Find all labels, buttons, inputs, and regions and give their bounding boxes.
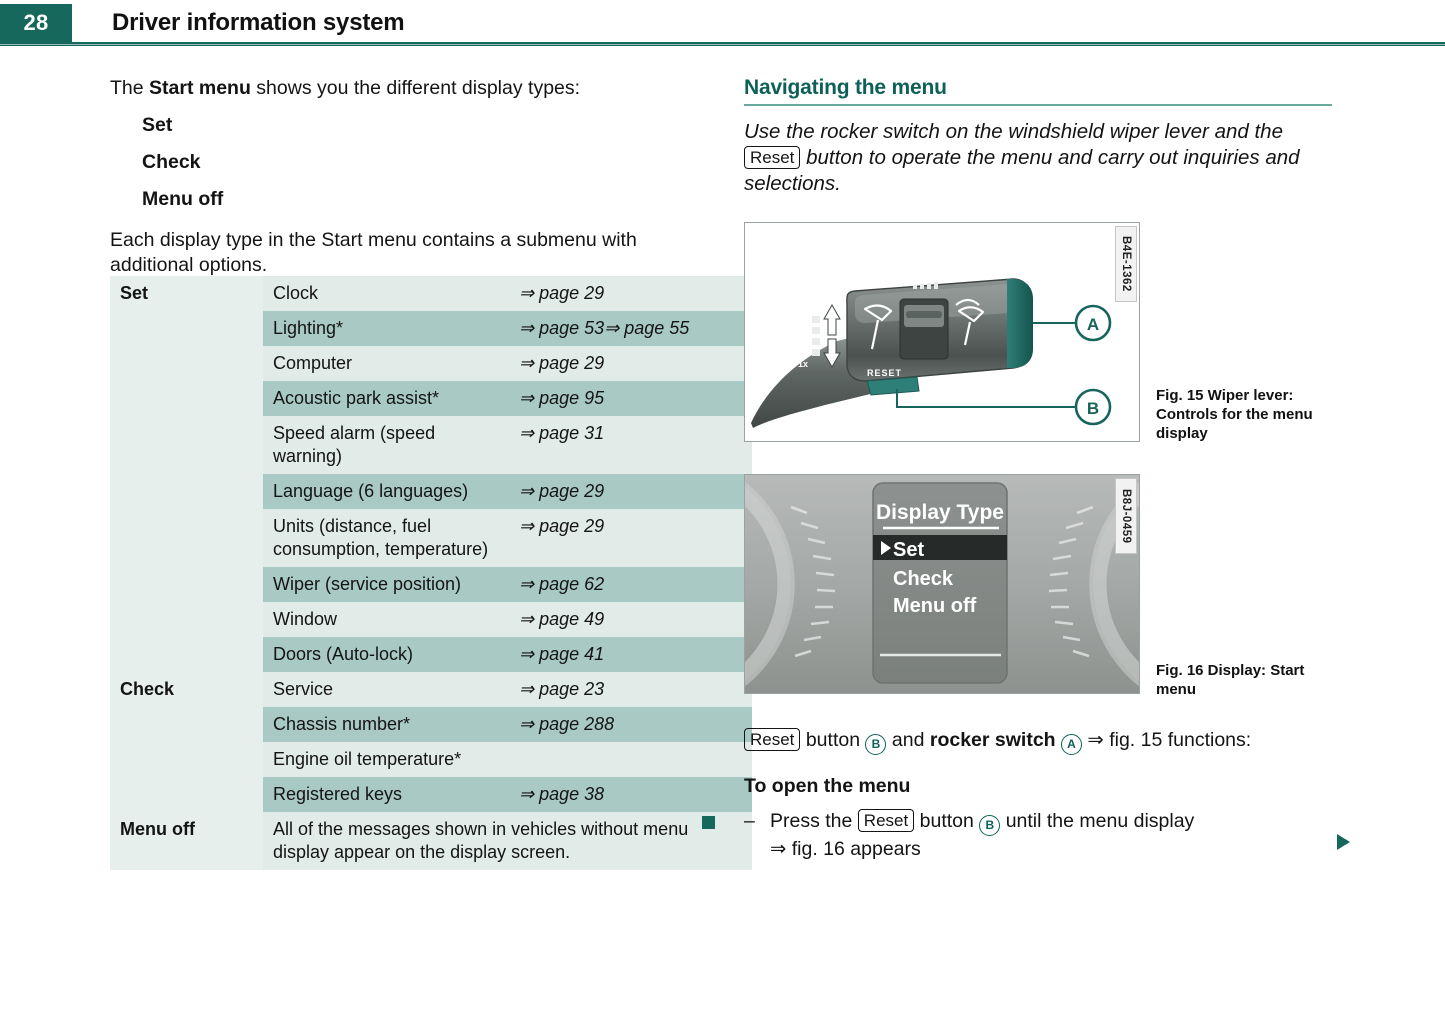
table-cell-item: Engine oil temperature* xyxy=(263,742,509,777)
functions-tail: ⇒ fig. 15 functions: xyxy=(1082,729,1251,751)
intro-paragraph: The Start menu shows you the different d… xyxy=(110,76,700,101)
step-post: until the menu display xyxy=(1000,810,1194,832)
lever-mark-high: HIGH xyxy=(786,313,809,323)
lever-mark-low: LOW xyxy=(787,325,808,335)
table-row: Menu offAll of the messages shown in veh… xyxy=(110,812,752,870)
reset-key-step: Reset xyxy=(858,809,914,832)
callout-label-b: B xyxy=(1087,399,1099,418)
table-group-label: Menu off xyxy=(110,812,263,870)
navigating-intro-part1: Use the rocker switch on the windshield … xyxy=(744,120,1283,143)
callout-circle-b-step: B xyxy=(979,815,1000,836)
display-screen-title: Display Type xyxy=(876,501,1004,524)
table-row: SetClock⇒ page 29 xyxy=(110,276,752,311)
functions-bold-rocker: rocker switch xyxy=(930,729,1056,751)
section-heading-navigating: Navigating the menu xyxy=(744,76,1344,100)
table-cell-item: Language (6 languages) xyxy=(263,474,509,509)
table-cell-reference: ⇒ page 29 xyxy=(509,346,752,381)
display-item-set: Set xyxy=(893,539,924,561)
table-cell-item: Lighting* xyxy=(263,311,509,346)
table-cell-reference: ⇒ page 23 xyxy=(509,672,752,707)
callout-circle-a-inline: A xyxy=(1061,734,1082,755)
figure-16-caption-line1: Fig. 16 Display: Start xyxy=(1156,661,1336,680)
section-heading-rule xyxy=(744,104,1332,106)
table-cell-item: Wiper (service position) xyxy=(263,567,509,602)
menu-structure-table: SetClock⇒ page 29Lighting*⇒ page 53⇒ pag… xyxy=(110,276,752,870)
section-end-marker xyxy=(702,816,715,829)
intro-prefix: The xyxy=(110,77,149,99)
callout-label-a: A xyxy=(1087,315,1099,334)
right-column: Navigating the menu Use the rocker switc… xyxy=(744,76,1344,197)
table-cell-reference: ⇒ page 29 xyxy=(509,474,752,509)
menu-structure-table-body: SetClock⇒ page 29Lighting*⇒ page 53⇒ pag… xyxy=(110,276,752,870)
page-number: 28 xyxy=(23,10,48,36)
figure-15-caption: Fig. 15 Wiper lever: Controls for the me… xyxy=(1156,386,1336,443)
navigating-intro-paragraph: Use the rocker switch on the windshield … xyxy=(744,119,1329,197)
table-cell-item: Computer xyxy=(263,346,509,381)
table-cell-reference xyxy=(509,742,752,777)
figure-15-box: HIGH LOW · · · OFF 1x RESET A B B4E-1362 xyxy=(744,222,1140,442)
step-pre: Press the xyxy=(770,810,858,832)
step-dash: – xyxy=(744,808,770,834)
table-cell-reference: ⇒ page 38 xyxy=(509,777,752,812)
figure-15-caption-line3: display xyxy=(1156,424,1336,443)
table-group-label: Check xyxy=(110,672,263,812)
table-cell-reference: ⇒ page 29 xyxy=(509,276,752,311)
figure-16: Display Type Set Check Menu off B8J-0459 xyxy=(744,474,1140,694)
wiper-lever-illustration: HIGH LOW · · · OFF 1x RESET A B xyxy=(745,223,1139,441)
reset-key-functions: Reset xyxy=(744,728,800,751)
table-cell-item: Chassis number* xyxy=(263,707,509,742)
table-cell-item: Service xyxy=(263,672,509,707)
table-cell-reference: ⇒ page 49 xyxy=(509,602,752,637)
open-menu-step: –Press the Reset button B until the menu… xyxy=(744,808,1344,862)
figure-16-caption: Fig. 16 Display: Start menu xyxy=(1156,661,1336,699)
display-type-menu-off: Menu off xyxy=(142,187,700,212)
table-cell-item: Window xyxy=(263,602,509,637)
table-cell-item: Doors (Auto-lock) xyxy=(263,637,509,672)
figure-16-caption-line2: menu xyxy=(1156,680,1336,699)
table-cell-item: Registered keys xyxy=(263,777,509,812)
display-item-menu-off: Menu off xyxy=(893,595,977,617)
table-cell-description: All of the messages shown in vehicles wi… xyxy=(263,812,752,870)
intro-bold: Start menu xyxy=(149,77,251,99)
page-header: 28 Driver information system xyxy=(0,0,1445,46)
table-cell-reference: ⇒ page 62 xyxy=(509,567,752,602)
instrument-cluster-display-illustration: Display Type Set Check Menu off xyxy=(745,475,1139,693)
table-cell-item: Clock xyxy=(263,276,509,311)
table-cell-item: Acoustic park assist* xyxy=(263,381,509,416)
callout-circle-b-inline: B xyxy=(865,734,886,755)
table-cell-reference: ⇒ page 41 xyxy=(509,637,752,672)
figure-16-box: Display Type Set Check Menu off B8J-0459 xyxy=(744,474,1140,694)
display-type-set: Set xyxy=(142,113,700,138)
table-cell-item: Units (distance, fuel consumption, tempe… xyxy=(263,509,509,567)
navigating-intro-part2: button to operate the menu and carry out… xyxy=(744,146,1300,195)
functions-word-button: button xyxy=(800,729,865,751)
left-column: The Start menu shows you the different d… xyxy=(110,76,700,278)
figure-15: HIGH LOW · · · OFF 1x RESET A B B4E-1362 xyxy=(744,222,1140,442)
figure-15-caption-line1: Fig. 15 Wiper lever: xyxy=(1156,386,1336,405)
table-cell-reference: ⇒ page 95 xyxy=(509,381,752,416)
reset-functions-line: Reset button B and rocker switch A ⇒ fig… xyxy=(744,728,1354,755)
figure-16-code: B8J-0459 xyxy=(1115,478,1137,554)
table-cell-item: Speed alarm (speed warning) xyxy=(263,416,509,474)
table-cell-reference: ⇒ page 29 xyxy=(509,509,752,567)
table-cell-reference: ⇒ page 288 xyxy=(509,707,752,742)
page-number-block: 28 xyxy=(0,4,72,42)
table-row: CheckService⇒ page 23 xyxy=(110,672,752,707)
step-line2: ⇒ fig. 16 appears xyxy=(770,836,1344,862)
page-title: Driver information system xyxy=(112,9,404,37)
figure-15-caption-line2: Controls for the menu xyxy=(1156,405,1336,424)
lever-mark-off: OFF xyxy=(790,347,808,357)
continue-arrow-marker xyxy=(1337,834,1350,850)
step-mid: button xyxy=(914,810,979,832)
submenu-paragraph: Each display type in the Start menu cont… xyxy=(110,228,700,278)
display-type-check: Check xyxy=(142,150,700,175)
open-menu-heading: To open the menu xyxy=(744,775,910,798)
lever-mark-1x: 1x xyxy=(798,359,808,369)
reset-label-on-lever: RESET xyxy=(867,368,902,378)
reset-key-inline: Reset xyxy=(744,146,800,169)
table-cell-reference: ⇒ page 53⇒ page 55 xyxy=(509,311,752,346)
figure-15-code: B4E-1362 xyxy=(1115,226,1137,302)
table-cell-reference: ⇒ page 31 xyxy=(509,416,752,474)
display-item-check: Check xyxy=(893,568,954,590)
table-group-label: Set xyxy=(110,276,263,672)
lever-mark-intermittent: · · · xyxy=(794,336,808,346)
header-rule-highlight xyxy=(0,44,1445,45)
functions-word-and: and xyxy=(886,729,929,751)
intro-suffix: shows you the different display types: xyxy=(251,77,580,99)
